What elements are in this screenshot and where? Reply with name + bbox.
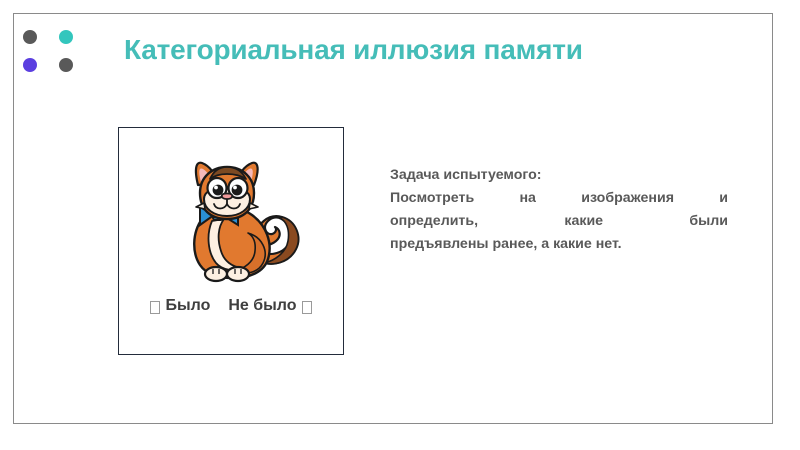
task-line: предъявлены ранее, а какие нет.: [390, 233, 728, 256]
option-was-not-shown[interactable]: Не было: [228, 297, 311, 315]
checkbox-icon[interactable]: [302, 301, 312, 314]
stimulus-card: Было Не было: [118, 127, 344, 355]
task-body: Посмотреть на изображения и определить, …: [390, 187, 728, 256]
checkbox-icon[interactable]: [150, 301, 160, 314]
option-was-not-shown-label: Не было: [228, 297, 296, 315]
dot-bottom-left-icon: [23, 58, 37, 72]
dot-cluster: [23, 30, 85, 84]
task-line: Посмотреть на изображения и: [390, 187, 728, 210]
task-description: Задача испытуемого: Посмотреть на изобра…: [390, 164, 728, 256]
option-was-shown-label: Было: [165, 297, 210, 315]
slide-title: Категориальная иллюзия памяти: [124, 34, 754, 66]
dot-top-right-icon: [59, 30, 73, 44]
dot-bottom-right-icon: [59, 58, 73, 72]
task-line: определить, какие были: [390, 210, 728, 233]
response-options: Было Не было: [119, 292, 343, 320]
option-was-shown[interactable]: Было: [150, 297, 210, 315]
cartoon-cat-illustration: [119, 140, 343, 292]
slide-frame: Категориальная иллюзия памяти: [13, 13, 773, 424]
task-heading: Задача испытуемого:: [390, 164, 728, 187]
dot-top-left-icon: [23, 30, 37, 44]
